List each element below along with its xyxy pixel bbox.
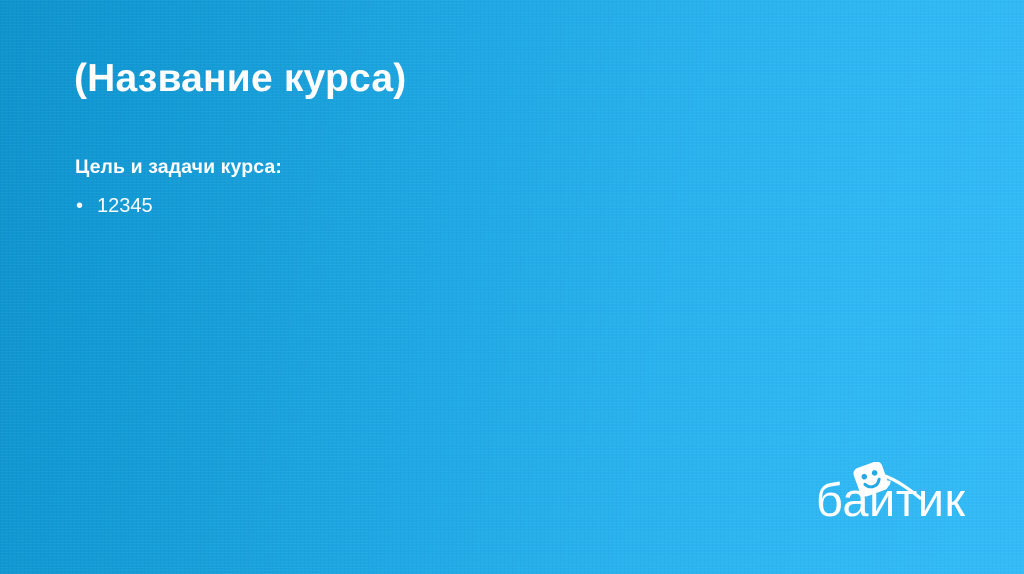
- list-item-label: 12345: [97, 195, 153, 217]
- baytik-logo: байтик: [812, 462, 977, 534]
- slide-body: Цель и задачи курса: • 12345: [75, 155, 895, 223]
- body-heading: Цель и задачи курса:: [75, 155, 895, 179]
- kite-tail-stroke: [885, 476, 920, 498]
- presentation-slide: (Название курса) Цель и задачи курса: • …: [0, 0, 1024, 574]
- bullet-list: • 12345: [75, 193, 895, 219]
- list-item: • 12345: [75, 193, 895, 219]
- bullet-point-icon: •: [76, 193, 83, 219]
- slide-title: (Название курса): [74, 57, 406, 102]
- die-body: [852, 462, 890, 498]
- smiley-die-icon: [852, 462, 932, 506]
